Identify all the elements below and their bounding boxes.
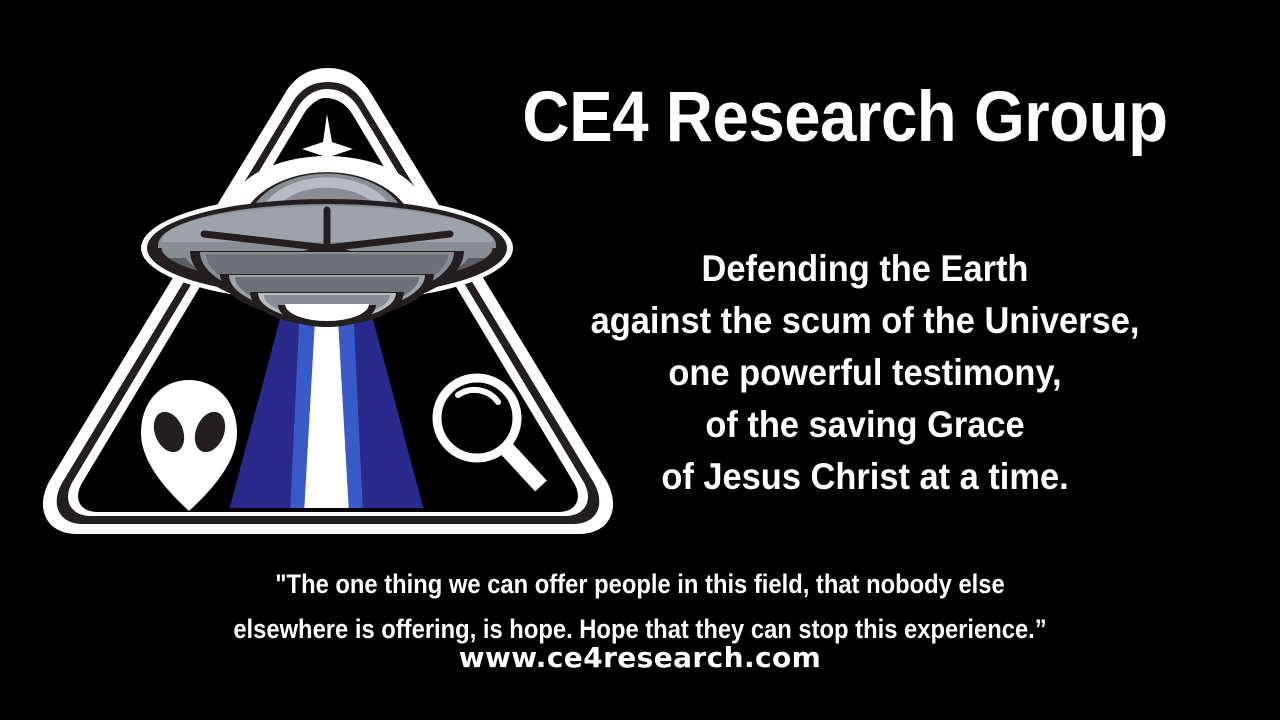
- tagline-line: against the scum of the Universe,: [498, 295, 1233, 347]
- tagline-line: of the saving Grace: [498, 399, 1233, 451]
- quote-block: "The one thing we can offer people in th…: [130, 562, 1151, 652]
- promo-card: CE4 Research Group Defending the Earth a…: [0, 0, 1280, 720]
- tagline-line: Defending the Earth: [498, 243, 1233, 295]
- tagline-line: of Jesus Christ at a time.: [498, 451, 1233, 503]
- tagline-line: one powerful testimony,: [498, 347, 1233, 399]
- page-title: CE4 Research Group: [463, 82, 1227, 153]
- tagline-block: Defending the Earth against the scum of …: [498, 243, 1233, 503]
- quote-line: "The one thing we can offer people in th…: [130, 562, 1151, 607]
- website-url[interactable]: www.ce4research.com: [60, 641, 1220, 674]
